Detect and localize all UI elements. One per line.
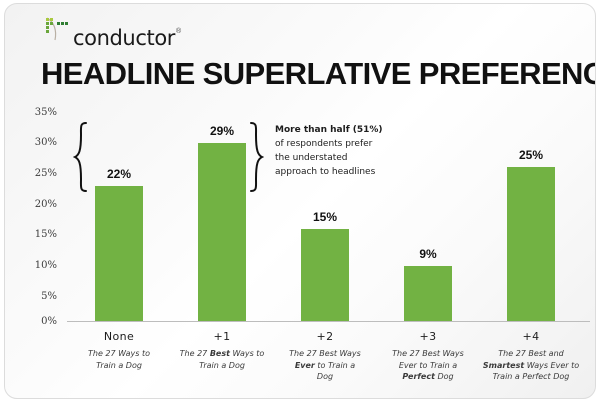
annotation-line-4: approach to headlines: [275, 166, 440, 180]
x-axis-line: [67, 321, 590, 322]
xtick-caption: The 27 Best Ways toTrain a Dog: [166, 348, 278, 371]
ytick-label: 35%: [23, 107, 57, 118]
left-curly-brace-icon: [73, 121, 89, 193]
xtick-caption: The 27 Best andSmartest Ways Ever toTrai…: [475, 348, 587, 383]
bar-value-label: 9%: [388, 247, 468, 261]
xtick-label: +3: [372, 330, 484, 343]
ytick-label: 10%: [23, 260, 57, 271]
xtick-none: None The 27 Ways toTrain a Dog: [63, 330, 175, 371]
xtick-plus2: +2 The 27 Best WaysEver to Train aDog: [269, 330, 381, 383]
xtick-label: +1: [166, 330, 278, 343]
bar-plus2[interactable]: [301, 229, 349, 321]
ytick-label: 25%: [23, 168, 57, 179]
bar-value-label: 15%: [285, 210, 365, 224]
ytick-label: 5%: [23, 291, 57, 302]
annotation-line-2: of respondents prefer: [275, 138, 440, 152]
bar-plus1[interactable]: [198, 143, 246, 321]
ytick-label: 30%: [23, 137, 57, 148]
xtick-plus3: +3 The 27 Best WaysEver to Train aPerfec…: [372, 330, 484, 383]
xtick-caption: The 27 Best WaysEver to Train aPerfect D…: [372, 348, 484, 383]
annotation-line-3: the understated: [275, 152, 440, 166]
bar-none[interactable]: [95, 186, 143, 321]
bar-plus4[interactable]: [507, 167, 555, 321]
right-curly-brace-icon: [248, 121, 264, 193]
annotation-callout: More than half (51%) of respondents pref…: [275, 124, 440, 180]
ytick-label: 0%: [23, 316, 57, 327]
xtick-caption: The 27 Best WaysEver to Train aDog: [269, 348, 381, 383]
xtick-label: +4: [475, 330, 587, 343]
bar-chart: 35% 30% 25% 20% 15% 10% 5% 0% 22% 29% 15…: [5, 4, 596, 399]
bar-value-label: 22%: [79, 167, 159, 181]
bar-value-label: 25%: [491, 148, 571, 162]
xtick-label: None: [63, 330, 175, 343]
ytick-label: 20%: [23, 199, 57, 210]
annotation-headline: More than half (51%): [275, 124, 440, 138]
bar-plus3[interactable]: [404, 266, 452, 321]
chart-card: conductor ® HEADLINE SUPERLATIVE PREFERE…: [4, 3, 596, 399]
xtick-caption: The 27 Ways toTrain a Dog: [63, 348, 175, 371]
xtick-label: +2: [269, 330, 381, 343]
ytick-label: 15%: [23, 229, 57, 240]
xtick-plus4: +4 The 27 Best andSmartest Ways Ever toT…: [475, 330, 587, 383]
xtick-plus1: +1 The 27 Best Ways toTrain a Dog: [166, 330, 278, 371]
